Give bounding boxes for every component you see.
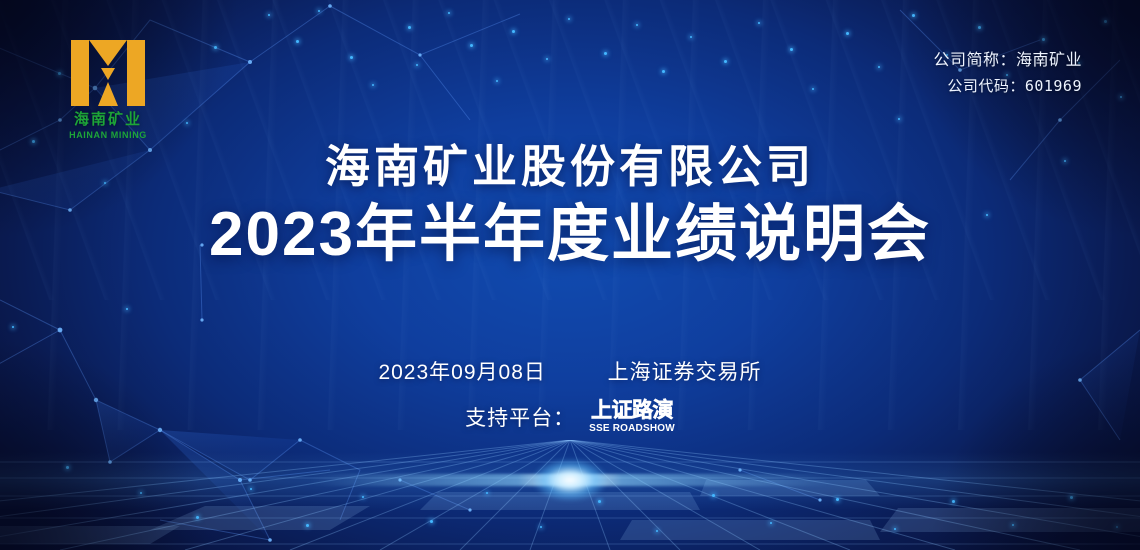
- company-code: 公司代码：601969: [933, 74, 1082, 99]
- hainan-mining-m-logo-icon: [67, 36, 149, 110]
- logo-name-cn: 海南矿业: [48, 112, 168, 129]
- event-venue: 上海证券交易所: [608, 361, 762, 384]
- sse-roadshow-name-cn: 上证路演: [591, 400, 673, 421]
- logo-name-en: HAINAN MINING: [48, 130, 168, 140]
- company-abbreviation: 公司简称：海南矿业: [933, 48, 1082, 74]
- presentation-banner: 海南矿业 HAINAN MINING 公司简称：海南矿业 公司代码：601969…: [0, 0, 1140, 550]
- company-logo: 海南矿业 HAINAN MINING: [48, 36, 168, 140]
- platform-label: 支持平台：: [465, 402, 575, 432]
- title-block: 海南矿业股份有限公司 2023年半年度业绩说明会: [0, 140, 1140, 273]
- event-date: 2023年09月08日: [378, 361, 545, 384]
- platform-row: 支持平台： 上证路演 SSE ROADSHOW: [0, 400, 1140, 434]
- event-info-block: 2023年09月08日 上海证券交易所 支持平台： 上证路演 SSE ROADS…: [0, 356, 1140, 434]
- sse-roadshow-name-en: SSE ROADSHOW: [589, 424, 675, 434]
- sse-roadshow-logo: 上证路演 SSE ROADSHOW: [589, 400, 675, 434]
- page-title-event: 2023年半年度业绩说明会: [0, 197, 1140, 273]
- page-title-company: 海南矿业股份有限公司: [0, 140, 1140, 193]
- company-meta: 公司简称：海南矿业 公司代码：601969: [933, 48, 1082, 99]
- event-datetime-venue: 2023年09月08日 上海证券交易所: [0, 356, 1140, 386]
